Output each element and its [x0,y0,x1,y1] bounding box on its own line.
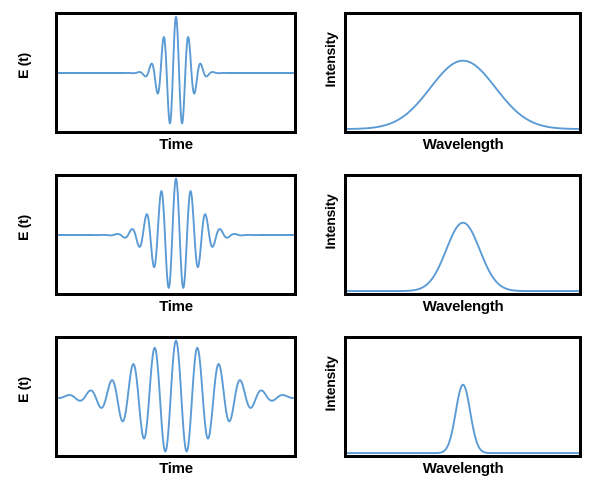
y-axis-label-intensity-1: Intensity [322,16,338,104]
y-axis-label-field-2: E (t) [15,193,31,263]
time-domain-cell-2: E (t) Time [0,162,303,324]
spectrum-cell-1: Intensity Wavelength [303,0,606,162]
x-axis-label-wavelength-2: Wavelength [344,298,582,315]
x-axis-label-time-3: Time [55,460,297,477]
spectrum-plot-1 [344,12,582,134]
time-domain-curve-3 [58,339,294,455]
y-axis-label-intensity-2: Intensity [322,178,338,266]
time-domain-curve-2 [58,177,294,293]
time-domain-cell-1: E (t) Time [0,0,303,162]
figure-row-1: E (t) Time Intensity Wavelength [0,0,606,162]
spectrum-curve-1 [347,15,579,131]
time-domain-plot-3 [55,336,297,458]
pulse-spectrum-figure: E (t) Time Intensity Wavelength E (t) Ti… [0,0,606,487]
spectrum-curve-3 [347,339,579,455]
figure-row-3: E (t) Time Intensity Wavelength [0,324,606,486]
spectrum-plot-3 [344,336,582,458]
spectrum-cell-2: Intensity Wavelength [303,162,606,324]
y-axis-label-field-3: E (t) [15,355,31,425]
x-axis-label-time-1: Time [55,136,297,153]
spectrum-plot-2 [344,174,582,296]
time-domain-cell-3: E (t) Time [0,324,303,486]
y-axis-label-field-1: E (t) [15,31,31,101]
x-axis-label-time-2: Time [55,298,297,315]
time-domain-plot-1 [55,12,297,134]
time-domain-plot-2 [55,174,297,296]
spectrum-curve-2 [347,177,579,293]
time-domain-curve-1 [58,15,294,131]
x-axis-label-wavelength-1: Wavelength [344,136,582,153]
x-axis-label-wavelength-3: Wavelength [344,460,582,477]
y-axis-label-intensity-3: Intensity [322,340,338,428]
spectrum-cell-3: Intensity Wavelength [303,324,606,486]
figure-row-2: E (t) Time Intensity Wavelength [0,162,606,324]
